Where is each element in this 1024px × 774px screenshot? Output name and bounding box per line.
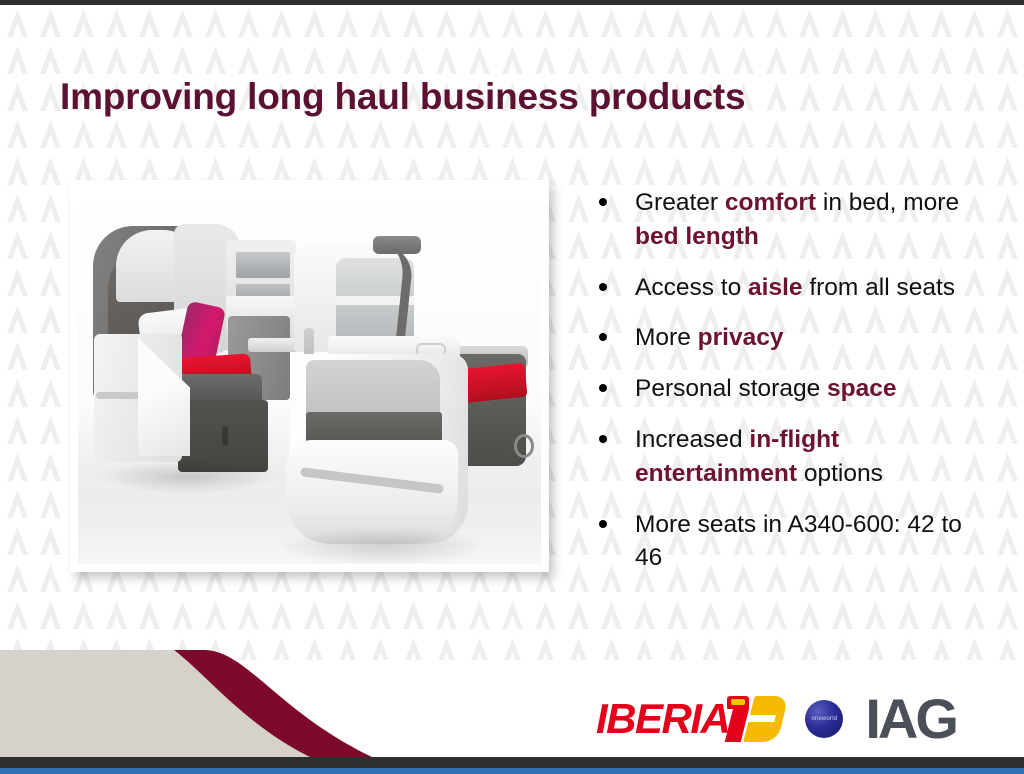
list-item: Personal storage space [596, 372, 968, 406]
bullet-list: Greater comfort in bed, more bed length … [596, 186, 968, 592]
right-seat-handle [514, 434, 534, 458]
oneworld-sphere-icon: oneworld [805, 700, 843, 738]
slide-bottom-strip [0, 757, 1024, 768]
iberia-logo: IBERIA [596, 696, 783, 742]
list-item: Greater comfort in bed, more bed length [596, 186, 968, 254]
bullet-dot-icon [599, 435, 607, 443]
footer-swoosh-shape [160, 650, 420, 757]
bullet-text: Greater comfort in bed, more bed length [635, 186, 968, 254]
list-item: More seats in A340-600: 42 to 46 [596, 508, 968, 576]
bullet-text: Access to aisle from all seats [635, 271, 968, 305]
list-item: More privacy [596, 321, 968, 355]
bullet-text: More seats in A340-600: 42 to 46 [635, 508, 968, 576]
bullet-text: Increased in-flight entertainment option… [635, 423, 968, 491]
slide: Improving long haul business products [0, 0, 1024, 774]
product-photo-frame [70, 180, 549, 572]
slide-top-edge [0, 0, 1024, 5]
bullet-dot-icon [599, 333, 607, 341]
suite-shadow [278, 526, 488, 564]
iag-wordmark: IAG [865, 691, 956, 747]
bullet-dot-icon [599, 198, 607, 206]
oneworld-label: oneworld [805, 716, 843, 722]
page-title: Improving long haul business products [60, 76, 745, 119]
iberia-wordmark: IBERIA [596, 698, 729, 740]
left-seat-shadow [98, 460, 278, 494]
slide-bottom-accent [0, 768, 1024, 774]
iberia-ib-monogram-icon [727, 696, 783, 742]
product-photo [78, 188, 541, 564]
bullet-dot-icon [599, 384, 607, 392]
bullet-text: More privacy [635, 321, 968, 355]
bullet-dot-icon [599, 283, 607, 291]
iberia-crown-icon [727, 696, 749, 709]
footer-logos: IBERIA oneworld IAG [596, 688, 956, 750]
list-item: Increased in-flight entertainment option… [596, 423, 968, 491]
console-shelf-upper [236, 252, 290, 278]
bullet-dot-icon [599, 520, 607, 528]
bullet-text: Personal storage space [635, 372, 968, 406]
ib-letter-b [744, 696, 789, 742]
red-blanket-right [458, 363, 527, 404]
list-item: Access to aisle from all seats [596, 271, 968, 305]
